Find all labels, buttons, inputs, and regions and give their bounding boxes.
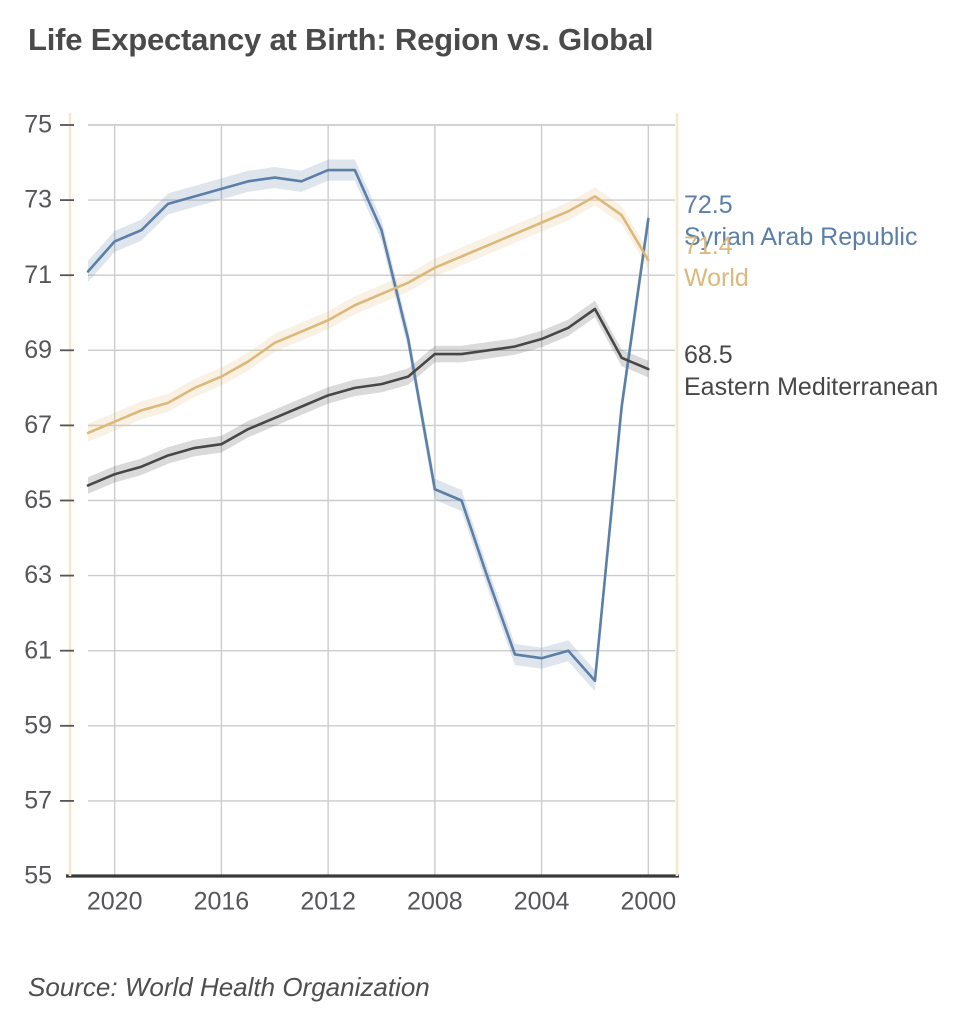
y-tick-label: 61 bbox=[24, 636, 52, 664]
y-axis-tick-labels: 5557596163656769717375 bbox=[24, 111, 74, 890]
y-tick-label: 55 bbox=[24, 862, 52, 890]
x-axis-tick-labels: 202020162012200820042000 bbox=[87, 888, 676, 916]
source-note: Source: World Health Organization bbox=[28, 972, 430, 1003]
y-tick-label: 73 bbox=[24, 186, 52, 214]
end-series-label-1: World bbox=[684, 264, 749, 292]
y-tick-label: 71 bbox=[24, 261, 52, 289]
y-tick-label: 57 bbox=[24, 787, 52, 815]
series-end-labels: 72.5Syrian Arab Republic71.4World68.5Eas… bbox=[684, 191, 938, 401]
y-tick-label: 69 bbox=[24, 336, 52, 364]
axes bbox=[66, 113, 679, 876]
y-tick-label: 67 bbox=[24, 411, 52, 439]
x-tick-label: 2012 bbox=[300, 888, 356, 916]
chart-plot-area: 5557596163656769717375 20202016201220082… bbox=[0, 0, 979, 1024]
y-tick-label: 65 bbox=[24, 486, 52, 514]
end-value-label-0: 72.5 bbox=[684, 191, 733, 219]
y-tick-label: 63 bbox=[24, 561, 52, 589]
chart-page: Life Expectancy at Birth: Region vs. Glo… bbox=[0, 0, 979, 1024]
end-value-label-1: 71.4 bbox=[684, 232, 733, 260]
x-tick-label: 2020 bbox=[87, 888, 143, 916]
x-tick-label: 2000 bbox=[621, 888, 677, 916]
x-tick-label: 2004 bbox=[514, 888, 570, 916]
x-tick-label: 2008 bbox=[407, 888, 463, 916]
end-value-label-2: 68.5 bbox=[684, 341, 733, 369]
x-tick-label: 2016 bbox=[194, 888, 250, 916]
end-series-label-2: Eastern Mediterranean bbox=[684, 373, 938, 401]
line-chart-svg: 5557596163656769717375 20202016201220082… bbox=[0, 0, 979, 1024]
series-band-1 bbox=[88, 187, 648, 442]
y-tick-label: 59 bbox=[24, 711, 52, 739]
y-tick-label: 75 bbox=[24, 111, 52, 139]
